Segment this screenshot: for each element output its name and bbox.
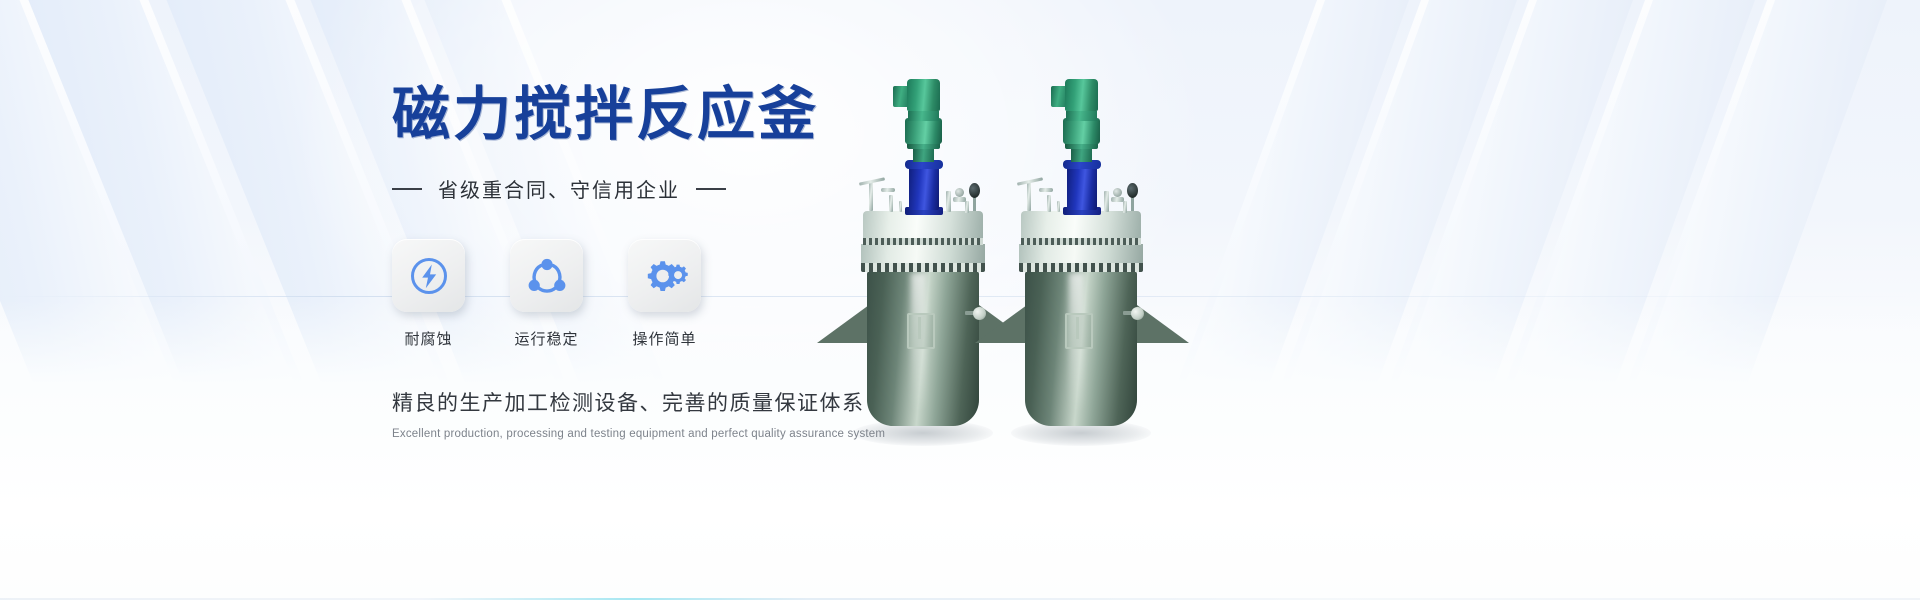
motor-fin xyxy=(908,111,939,121)
feature-label: 操作简单 xyxy=(632,328,696,349)
head-pipe-4 xyxy=(946,191,951,212)
head-valve xyxy=(1113,188,1122,197)
product-banner: 磁力搅拌反应釜 省级重合同、守信用企业 耐腐蚀 xyxy=(0,0,1920,600)
gauge-stem xyxy=(1131,196,1134,211)
pressure-gauge xyxy=(1127,183,1138,198)
side-nozzle-flange xyxy=(1131,307,1144,320)
slogan-english: Excellent production, processing and tes… xyxy=(392,428,912,440)
feature-label: 耐腐蚀 xyxy=(404,328,452,349)
support-leg-right xyxy=(1137,305,1189,343)
feature-tile xyxy=(628,239,701,312)
motor-neck xyxy=(1071,148,1092,162)
head-pipe-6 xyxy=(965,201,969,213)
banner-content: 磁力搅拌反应釜 省级重合同、守信用企业 耐腐蚀 xyxy=(392,86,912,440)
motor-body xyxy=(1063,118,1100,144)
subtitle-row: 省级重合同、守信用企业 xyxy=(392,174,912,203)
pressure-gauge xyxy=(969,183,980,198)
head-pipe-8 xyxy=(1057,201,1060,212)
banner-subtitle: 省级重合同、守信用企业 xyxy=(438,174,680,203)
motor-neck xyxy=(913,148,934,162)
page-title: 磁力搅拌反应釜 xyxy=(392,86,912,144)
head-pipe-2 xyxy=(1039,188,1053,192)
lower-bolt-ring xyxy=(1019,262,1143,272)
gauge-stem xyxy=(973,196,976,211)
dash-left-icon xyxy=(392,188,422,190)
feature-label: 运行稳定 xyxy=(514,328,578,349)
motor-housing xyxy=(1065,79,1098,111)
share-network-icon xyxy=(525,254,569,298)
feature-tile xyxy=(392,239,465,312)
head-pipe-3 xyxy=(1047,195,1051,212)
dash-right-icon xyxy=(696,188,726,190)
flange-band xyxy=(1019,244,1143,263)
vessel-head xyxy=(1021,211,1141,238)
feature-item-corrosion-resistant[interactable]: 耐腐蚀 xyxy=(392,239,465,349)
magnetic-coupling xyxy=(1067,167,1097,210)
lightning-bolt-icon xyxy=(408,255,450,297)
feature-tile xyxy=(510,239,583,312)
head-valve xyxy=(955,188,964,197)
feature-item-easy-operation[interactable]: 操作简单 xyxy=(628,239,701,349)
feature-list: 耐腐蚀 运行稳定 xyxy=(392,239,912,349)
head-pipe-1 xyxy=(1027,181,1031,211)
feature-item-stable-operation[interactable]: 运行稳定 xyxy=(510,239,583,349)
magnetic-coupling xyxy=(909,167,939,210)
head-pipe-6 xyxy=(1123,201,1127,213)
motor-fin xyxy=(1066,111,1097,121)
support-leg-left xyxy=(975,305,1027,343)
nameplate xyxy=(1065,313,1093,349)
slogan-chinese: 精良的生产加工检测设备、完善的质量保证体系 xyxy=(392,387,912,417)
head-pipe-4 xyxy=(1104,191,1109,212)
reactor-unit-right xyxy=(1003,55,1158,440)
gears-icon xyxy=(642,255,688,297)
